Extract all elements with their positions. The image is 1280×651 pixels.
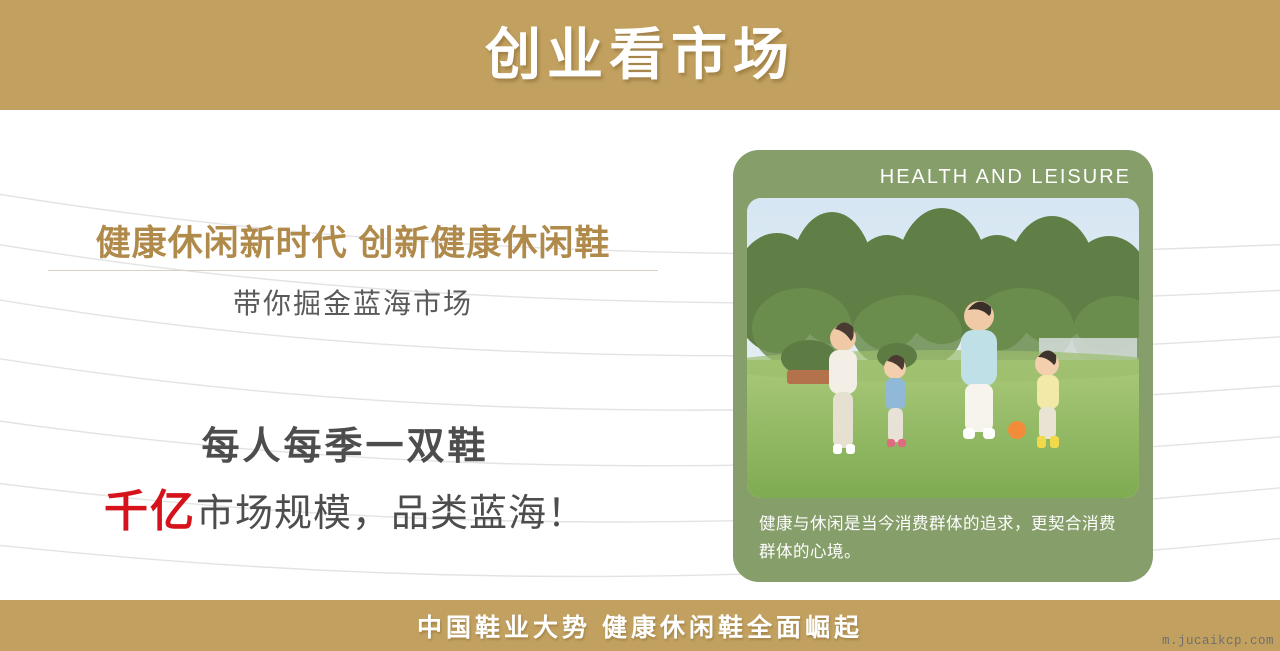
footer-banner: 中国鞋业大势 健康休闲鞋全面崛起 bbox=[0, 600, 1280, 651]
family-running-on-grass-photo bbox=[747, 198, 1139, 498]
figure-father bbox=[961, 301, 997, 439]
slogan-line-2: 千亿市场规模，品类蓝海！ bbox=[40, 475, 650, 539]
header-banner: 创业看市场 bbox=[0, 0, 1280, 110]
feature-card: HEALTH AND LEISURE bbox=[733, 150, 1153, 582]
watermark: m.jucaikcp.com bbox=[1162, 634, 1274, 648]
headline-divider bbox=[48, 270, 658, 271]
left-text-column: 健康休闲新时代 创新健康休闲鞋 带你掘金蓝海市场 每人每季一双鞋 千亿市场规模，… bbox=[0, 110, 700, 600]
page-title: 创业看市场 bbox=[485, 27, 795, 83]
slogan-line-1: 每人每季一双鞋 bbox=[40, 415, 650, 470]
headline: 健康休闲新时代 创新健康休闲鞋 bbox=[48, 215, 658, 266]
card-label: HEALTH AND LEISURE bbox=[880, 166, 1131, 189]
poster-page: 创业看市场 健康休闲新时代 创新健康休闲鞋 带你掘金蓝海市场 每人每季一双鞋 千… bbox=[0, 0, 1280, 651]
slogan-line-2-rest: 市场规模，品类蓝海！ bbox=[196, 493, 586, 535]
content-area: 健康休闲新时代 创新健康休闲鞋 带你掘金蓝海市场 每人每季一双鞋 千亿市场规模，… bbox=[0, 110, 1280, 600]
figure-mother bbox=[829, 322, 857, 454]
sub-headline: 带你掘金蓝海市场 bbox=[48, 282, 658, 322]
photo-illustration bbox=[747, 198, 1139, 498]
card-caption: 健康与休闲是当今消费群体的追求，更契合消费群体的心境。 bbox=[759, 510, 1129, 566]
footer-title: 中国鞋业大势 健康休闲鞋全面崛起 bbox=[417, 608, 863, 644]
slogan-highlight: 千亿 bbox=[104, 487, 196, 536]
